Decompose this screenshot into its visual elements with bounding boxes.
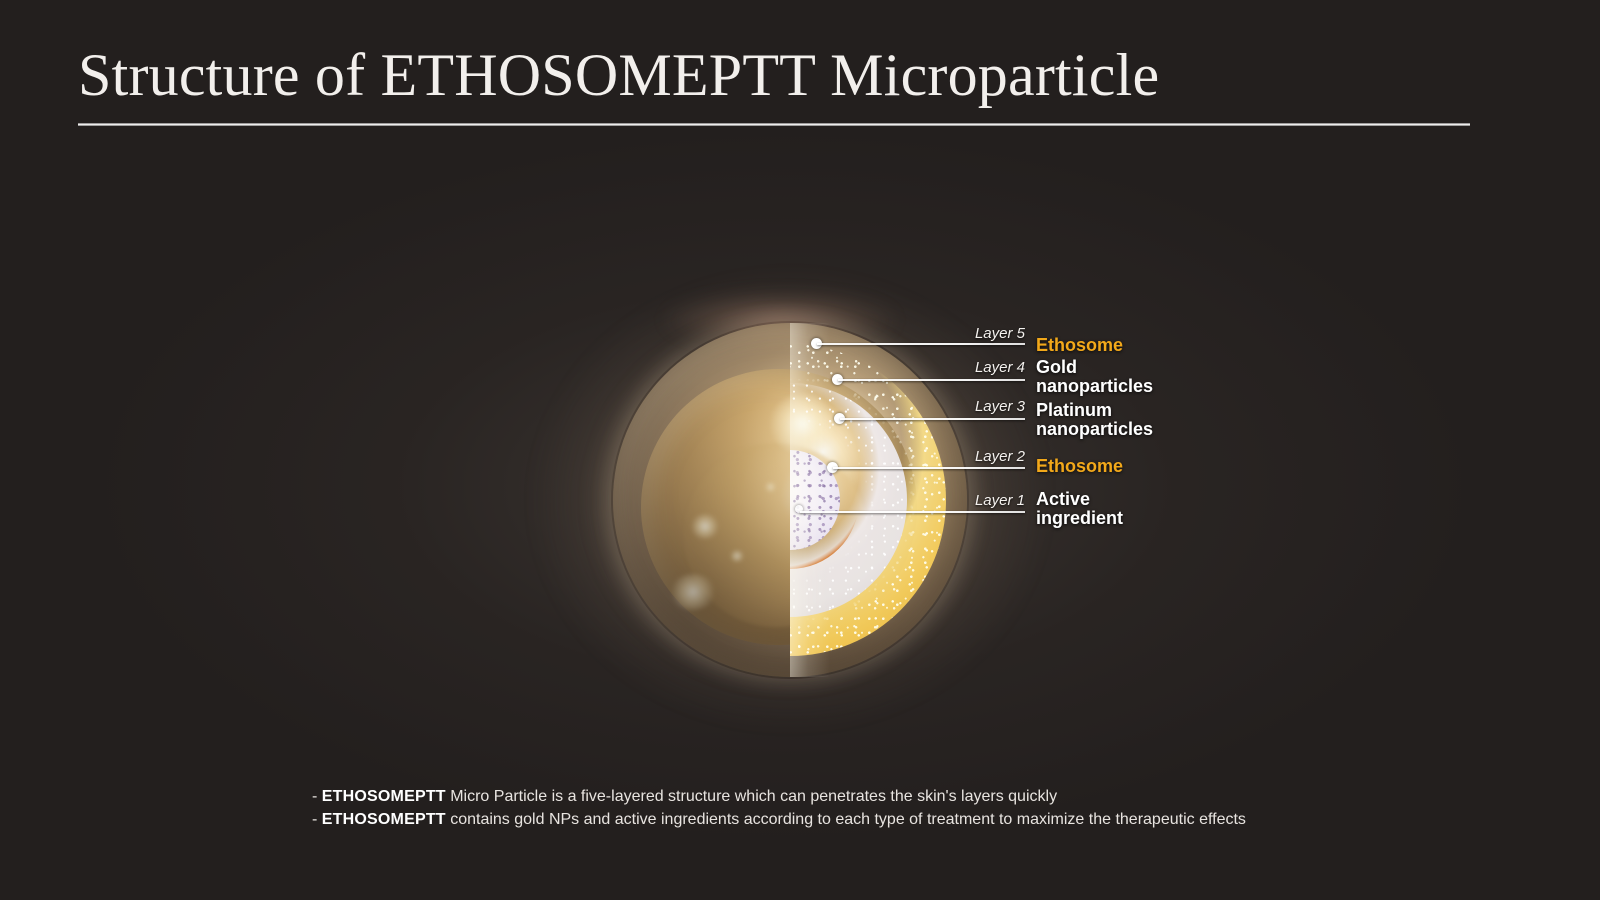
slide-background xyxy=(0,0,1600,900)
layer-2-ethosome-bilayer xyxy=(790,431,859,569)
footnote-item-1: - ETHOSOMEPTT Micro Particle is a five-l… xyxy=(312,785,1312,808)
specular-highlight-lower xyxy=(670,574,716,609)
footnote-item-2: - ETHOSOMEPTT contains gold NPs and acti… xyxy=(312,808,1312,831)
title-divider xyxy=(78,123,1470,126)
callout-dot-layer-1 xyxy=(795,505,803,513)
microparticle-sphere xyxy=(613,323,967,677)
layer-5-ethosome-bilayer xyxy=(790,323,967,677)
callout-line-layer-2 xyxy=(833,467,1025,469)
footnote-brand-1: ETHOSOMEPTT xyxy=(322,788,446,805)
footnote-text-2: contains gold NPs and active ingredients… xyxy=(446,811,1246,828)
callout-dot-layer-2 xyxy=(827,462,838,473)
cutaway-layer-stack xyxy=(790,323,967,677)
particle-flare xyxy=(630,285,930,355)
callout-line-layer-1 xyxy=(800,511,1025,513)
footnote-dash-2: - xyxy=(312,811,317,828)
callout-line-layer-3 xyxy=(840,418,1025,420)
callout-layer-label-2: Layer 2 xyxy=(845,448,1025,465)
layer-4-gold-nanoparticle-speckle xyxy=(790,344,946,656)
callout-layer-label-3: Layer 3 xyxy=(845,398,1025,415)
sphere-inner-shell xyxy=(641,369,917,645)
specular-highlight-rim xyxy=(804,610,829,628)
cutaway-section xyxy=(790,323,967,677)
footnote-list: - ETHOSOMEPTT Micro Particle is a five-l… xyxy=(312,785,1312,831)
layer-4-gold-nanoparticle-band xyxy=(790,344,946,656)
specular-highlight-dot-2 xyxy=(765,482,776,491)
particle-glow-inner xyxy=(560,275,1030,725)
layer-2-bilayer-heads-texture xyxy=(790,431,859,569)
layer-5-bilayer-heads-texture xyxy=(790,323,967,677)
callout-layer-label-4: Layer 4 xyxy=(845,359,1025,376)
page-title: Structure of ETHOSOMEPTT Microparticle xyxy=(78,44,1470,107)
footnote-brand-2: ETHOSOMEPTT xyxy=(322,811,446,828)
sphere-core-ball xyxy=(684,443,868,627)
sphere-shading xyxy=(613,323,967,677)
footnote-dash-1: - xyxy=(312,788,317,805)
sphere-outer-shell xyxy=(613,323,967,677)
specular-highlight-dot xyxy=(730,550,744,562)
callout-layer-label-1: Layer 1 xyxy=(845,492,1025,509)
callout-name-layer-4: Gold nanoparticles xyxy=(1036,358,1153,396)
callout-name-layer-3: Platinum nanoparticles xyxy=(1036,401,1153,439)
callout-name-layer-1: Active ingredient xyxy=(1036,490,1123,528)
callout-dot-layer-3 xyxy=(834,413,845,424)
slide-header: Structure of ETHOSOMEPTT Microparticle xyxy=(78,44,1470,126)
cut-plane-sheen xyxy=(790,323,830,677)
callout-line-layer-5 xyxy=(817,343,1025,345)
specular-highlight-small xyxy=(691,514,719,539)
layer-3-platinum-nanoparticle-band xyxy=(790,383,907,617)
microparticle-figure: Layer 5 Ethosome Layer 4 Gold nanopartic… xyxy=(0,0,1600,900)
callout-dot-layer-5 xyxy=(811,338,822,349)
particle-outer-rim xyxy=(611,321,969,679)
layer-1-active-ingredient-particles xyxy=(790,450,840,549)
callout-name-layer-5: Ethosome xyxy=(1036,336,1123,355)
specular-highlight-main xyxy=(769,394,836,454)
footnote-text-1: Micro Particle is a five-layered structu… xyxy=(446,788,1057,805)
callout-layer-label-5: Layer 5 xyxy=(845,325,1025,342)
callout-dot-layer-4 xyxy=(832,374,843,385)
layer-3-platinum-nanoparticle-speckle xyxy=(790,383,907,617)
callout-name-layer-2: Ethosome xyxy=(1036,457,1123,476)
particle-glow xyxy=(470,205,1110,795)
callout-group: Layer 5 Ethosome Layer 4 Gold nanopartic… xyxy=(0,0,1600,900)
layer-1-active-ingredient-core xyxy=(790,450,840,549)
callout-line-layer-4 xyxy=(838,379,1025,381)
